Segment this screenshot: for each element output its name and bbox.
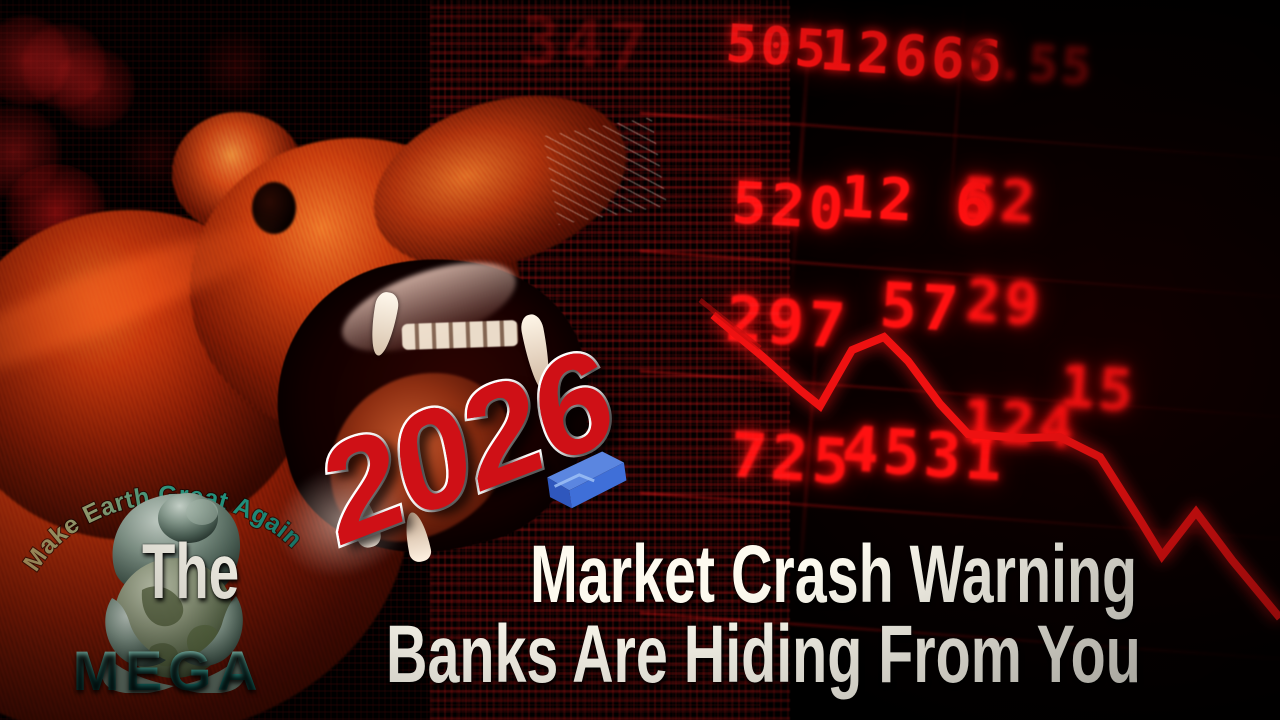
ticker-cell: 52 bbox=[960, 164, 1041, 237]
headline-the: The bbox=[142, 526, 239, 617]
bear-whiskers bbox=[543, 117, 667, 225]
ticker-cell: 15 bbox=[1058, 352, 1139, 425]
ticker-cell: 5.55 bbox=[960, 30, 1096, 97]
brand-wordmark: MEGA bbox=[18, 638, 318, 703]
bear-tooth-row bbox=[402, 320, 519, 350]
ticker-cell: 57 bbox=[878, 268, 965, 346]
ticker-cell: 29 bbox=[964, 266, 1045, 339]
headline-line2: Banks Are Hiding From You bbox=[386, 608, 1141, 702]
thumbnail-canvas: 347 505 12666 5.55 520 12 6 52 297 57 29… bbox=[0, 0, 1280, 720]
blue-block-decoration bbox=[541, 446, 632, 513]
